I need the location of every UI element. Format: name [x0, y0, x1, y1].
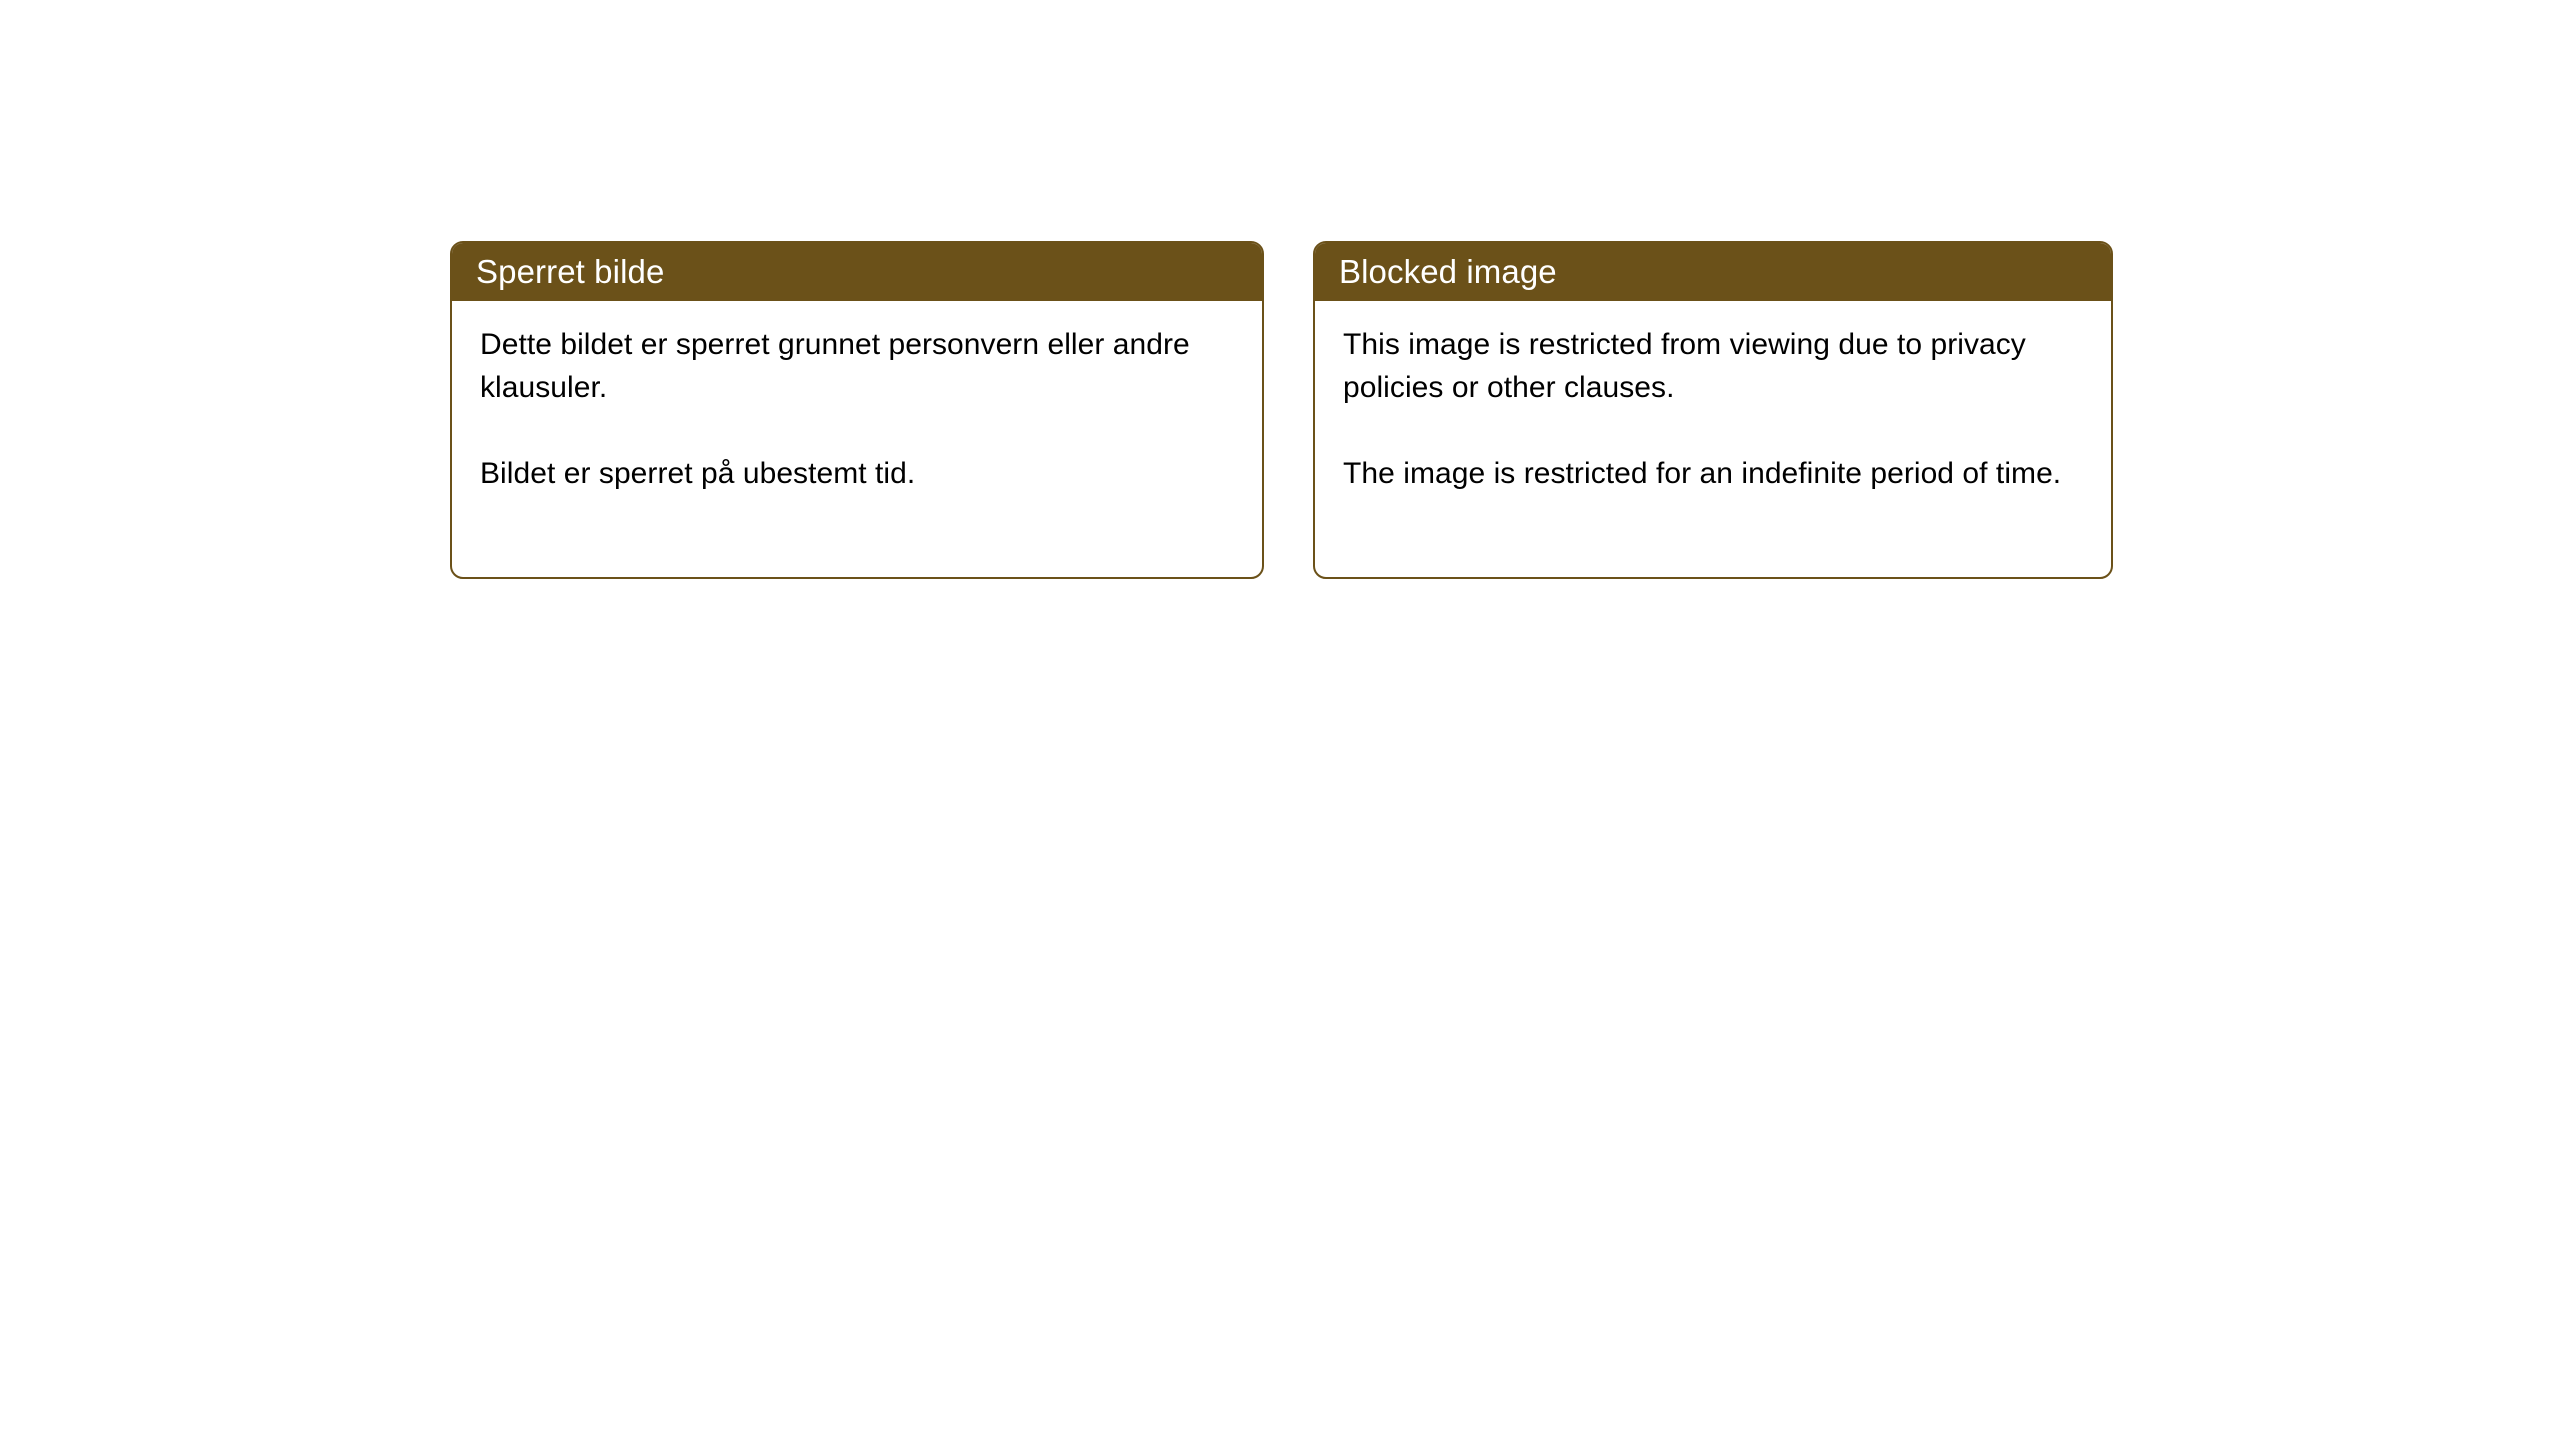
card-header-en: Blocked image: [1313, 241, 2113, 301]
card-paragraph-en-1: This image is restricted from viewing du…: [1343, 323, 2085, 409]
page-root: Sperret bilde Dette bildet er sperret gr…: [0, 0, 2560, 1440]
card-title-en: Blocked image: [1339, 255, 1557, 288]
card-paragraph-no-2: Bildet er sperret på ubestemt tid.: [480, 452, 1236, 495]
card-body-en: This image is restricted from viewing du…: [1315, 301, 2111, 495]
card-paragraph-en-2: The image is restricted for an indefinit…: [1343, 452, 2085, 495]
card-paragraph-no-1: Dette bildet er sperret grunnet personve…: [480, 323, 1236, 409]
card-title-no: Sperret bilde: [476, 255, 664, 288]
blocked-image-notice-no: Sperret bilde Dette bildet er sperret gr…: [450, 241, 1264, 579]
card-header-no: Sperret bilde: [450, 241, 1264, 301]
blocked-image-notice-en: Blocked image This image is restricted f…: [1313, 241, 2113, 579]
card-body-no: Dette bildet er sperret grunnet personve…: [452, 301, 1262, 495]
